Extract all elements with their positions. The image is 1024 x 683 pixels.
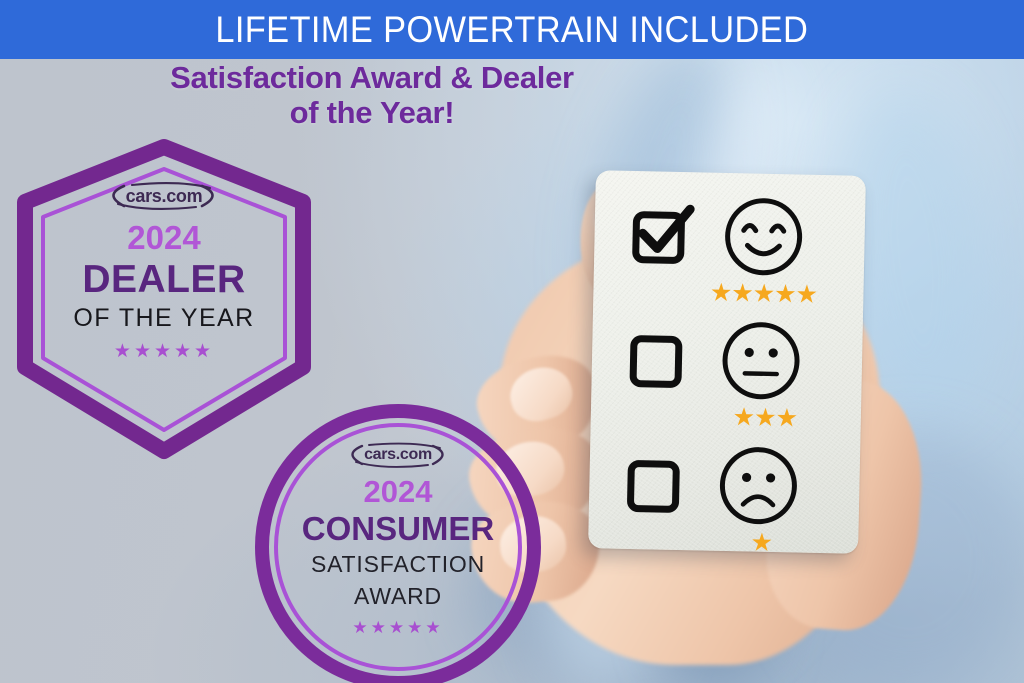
rating-stars: ★ xyxy=(726,530,797,556)
badge-title: DEALER xyxy=(82,260,245,299)
badge-title: CONSUMER xyxy=(302,512,495,545)
badge-subtitle: OF THE YEAR xyxy=(73,306,254,331)
top-banner: LIFETIME POWERTRAIN INCLUDED xyxy=(0,0,1024,59)
survey-row: ★ xyxy=(588,435,861,567)
rating-stars: ★★★★★ xyxy=(703,280,823,308)
cars-com-logo: cars.com xyxy=(98,179,230,213)
survey-row: ★★★ xyxy=(590,310,863,442)
checkbox-happy[interactable] xyxy=(632,211,685,264)
survey-row: ★★★★★ xyxy=(593,186,866,318)
badge-subtitle-line1: SATISFACTION xyxy=(311,551,485,577)
page-headline: Satisfaction Award & Dealer of the Year! xyxy=(52,60,692,130)
badge-stars: ★★★★★ xyxy=(352,619,443,636)
headline-line-1: Satisfaction Award & Dealer xyxy=(52,60,692,95)
cars-com-logo: cars.com xyxy=(338,440,458,470)
rating-stars: ★★★ xyxy=(717,405,814,432)
headline-line-2: of the Year! xyxy=(52,95,692,130)
consumer-satisfaction-award-badge: cars.com 2024 CONSUMER SATISFACTION AWAR… xyxy=(253,402,543,683)
neutral-face-icon xyxy=(719,319,803,403)
logo-text: cars.com xyxy=(98,179,230,213)
badge-subtitle-line2: AWARD xyxy=(354,583,442,609)
sad-face-icon xyxy=(717,444,801,528)
badge-year: 2024 xyxy=(127,221,200,254)
checkbox-neutral[interactable] xyxy=(629,335,682,388)
promo-banner-image: ★★★★★ ★★★ ★ xyxy=(0,0,1024,683)
logo-text: cars.com xyxy=(338,440,458,470)
badge-year: 2024 xyxy=(364,476,433,507)
checkbox-sad[interactable] xyxy=(627,460,680,513)
survey-card: ★★★★★ ★★★ ★ xyxy=(588,170,866,554)
happy-face-icon xyxy=(722,195,806,279)
badge-stars: ★★★★★ xyxy=(114,342,214,361)
banner-text: LIFETIME POWERTRAIN INCLUDED xyxy=(216,9,809,51)
